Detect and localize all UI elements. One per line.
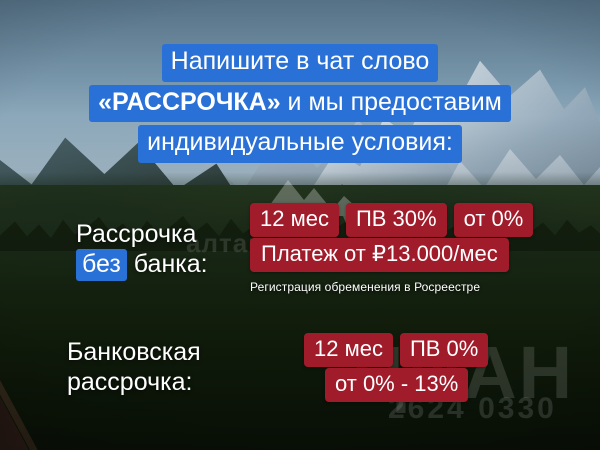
badge-downpayment: ПВ 30% — [346, 203, 447, 237]
headline-line-1-row: Напишите в чат слово — [0, 44, 600, 82]
headline-keyword: «РАССРОЧКА» — [98, 88, 281, 116]
poster-content: Напишите в чат слово «РАССРОЧКА» и мы пр… — [0, 0, 600, 450]
bank-badges-row-1: 12 мес ПВ 0% — [304, 333, 488, 367]
headline-block: Напишите в чат слово «РАССРОЧКА» и мы пр… — [0, 44, 600, 166]
badge-monthly-payment: Платеж от ₽13.000/мес — [250, 238, 509, 272]
no-bank-label-line-2: без банка: — [76, 249, 208, 281]
badge-term: 12 мес — [250, 203, 339, 237]
badge-bank-downpayment: ПВ 0% — [400, 333, 488, 367]
headline-line-1: Напишите в чат слово — [162, 44, 439, 82]
promo-poster: алтайский ЦИАН 2624 0330 Напишите в чат … — [0, 0, 600, 450]
headline-line-2-rest: и мы предоставим — [281, 88, 502, 116]
headline-line-2-row: «РАССРОЧКА» и мы предоставим — [0, 85, 600, 123]
headline-line-3-row: индивидуальные условия: — [0, 125, 600, 163]
no-bank-highlight: без — [76, 249, 127, 281]
badge-bank-rate: от 0% - 13% — [325, 368, 468, 402]
headline-line-3: индивидуальные условия: — [138, 125, 462, 163]
section-no-bank-label: Рассрочка без банка: — [76, 219, 208, 281]
bank-badges-row-2: от 0% - 13% — [325, 368, 468, 402]
no-bank-label-line-1: Рассрочка — [76, 219, 208, 249]
no-bank-badges-row-1: 12 мес ПВ 30% от 0% — [250, 203, 533, 237]
badge-rate: от 0% — [454, 203, 534, 237]
no-bank-badges-row-2: Платеж от ₽13.000/мес — [250, 238, 509, 272]
headline-line-2: «РАССРОЧКА» и мы предоставим — [89, 85, 511, 123]
rosreestr-caption: Регистрация обременения в Росреестре — [250, 280, 480, 294]
bank-label-line-1: Банковская — [67, 337, 201, 367]
no-bank-label-rest: банка: — [127, 250, 208, 278]
section-bank-label: Банковская рассрочка: — [67, 337, 201, 397]
badge-bank-term: 12 мес — [304, 333, 393, 367]
bank-label-line-2: рассрочка: — [67, 367, 201, 397]
